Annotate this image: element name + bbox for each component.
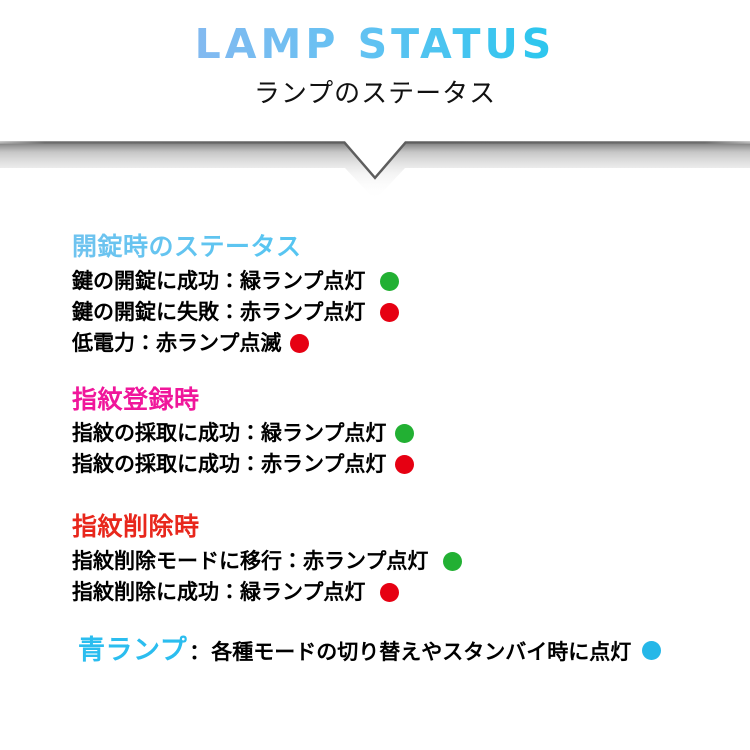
status-row-label: 指紋の採取に成功：赤ランプ点灯 <box>72 454 386 475</box>
lamp-red-icon <box>290 334 309 353</box>
header-divider <box>0 138 750 198</box>
divider-notch-icon <box>0 138 750 198</box>
section-spacer <box>72 608 732 636</box>
status-row-label: 指紋の採取に成功：緑ランプ点灯 <box>72 423 386 444</box>
section-spacer <box>72 359 732 385</box>
lamp-red-icon <box>380 303 399 322</box>
status-row: 指紋の採取に成功：緑ランプ点灯 <box>72 418 732 449</box>
status-row: 指紋削除に成功：緑ランプ点灯 <box>72 577 732 608</box>
status-row: 低電力：赤ランプ点滅 <box>72 328 732 359</box>
page-subtitle: ランプのステータス <box>0 66 750 110</box>
status-row-label: 低電力：赤ランプ点滅 <box>72 333 281 354</box>
lamp-status-page: { "header": { "title": "LAMP STATUS", "s… <box>0 0 750 750</box>
section-fingerprint-delete: 指紋削除時 指紋削除モードに移行：赤ランプ点灯 指紋削除に成功：緑ランプ点灯 <box>72 512 732 608</box>
section-heading-delete: 指紋削除時 <box>72 512 732 542</box>
lamp-blue-icon <box>642 641 661 660</box>
lamp-status-content: 開錠時のステータス 鍵の開錠に成功：緑ランプ点灯 鍵の開錠に失敗：赤ランプ点灯 … <box>72 232 732 666</box>
page-header: LAMP STATUS ランプのステータス <box>0 0 750 140</box>
status-row: 鍵の開錠に失敗：赤ランプ点灯 <box>72 297 732 328</box>
blue-lamp-description: 各種モードの切り替えやスタンバイ時に点灯 <box>211 636 631 666</box>
blue-lamp-separator: ： <box>189 636 210 666</box>
status-row-label: 指紋削除モードに移行：赤ランプ点灯 <box>72 551 428 572</box>
section-fingerprint-register: 指紋登録時 指紋の採取に成功：緑ランプ点灯 指紋の採取に成功：赤ランプ点灯 <box>72 385 732 481</box>
lamp-green-icon <box>395 424 414 443</box>
status-row-label: 鍵の開錠に失敗：赤ランプ点灯 <box>72 302 365 323</box>
section-blue-lamp: 青ランプ ： 各種モードの切り替えやスタンバイ時に点灯 <box>78 636 732 666</box>
section-heading-unlock: 開錠時のステータス <box>72 232 732 262</box>
section-unlock-status: 開錠時のステータス 鍵の開錠に成功：緑ランプ点灯 鍵の開錠に失敗：赤ランプ点灯 … <box>72 232 732 359</box>
status-row: 指紋削除モードに移行：赤ランプ点灯 <box>72 546 732 577</box>
lamp-green-icon <box>443 552 462 571</box>
status-row-label: 指紋削除に成功：緑ランプ点灯 <box>72 582 365 603</box>
lamp-red-icon <box>380 583 399 602</box>
status-row-label: 鍵の開錠に成功：緑ランプ点灯 <box>72 271 365 292</box>
page-title: LAMP STATUS <box>0 0 750 66</box>
status-row: 指紋の採取に成功：赤ランプ点灯 <box>72 449 732 480</box>
status-row: 鍵の開錠に成功：緑ランプ点灯 <box>72 266 732 297</box>
section-spacer <box>72 480 732 512</box>
section-heading-register: 指紋登録時 <box>72 385 732 415</box>
blue-lamp-label: 青ランプ <box>78 637 187 664</box>
lamp-green-icon <box>380 272 399 291</box>
lamp-red-icon <box>395 455 414 474</box>
